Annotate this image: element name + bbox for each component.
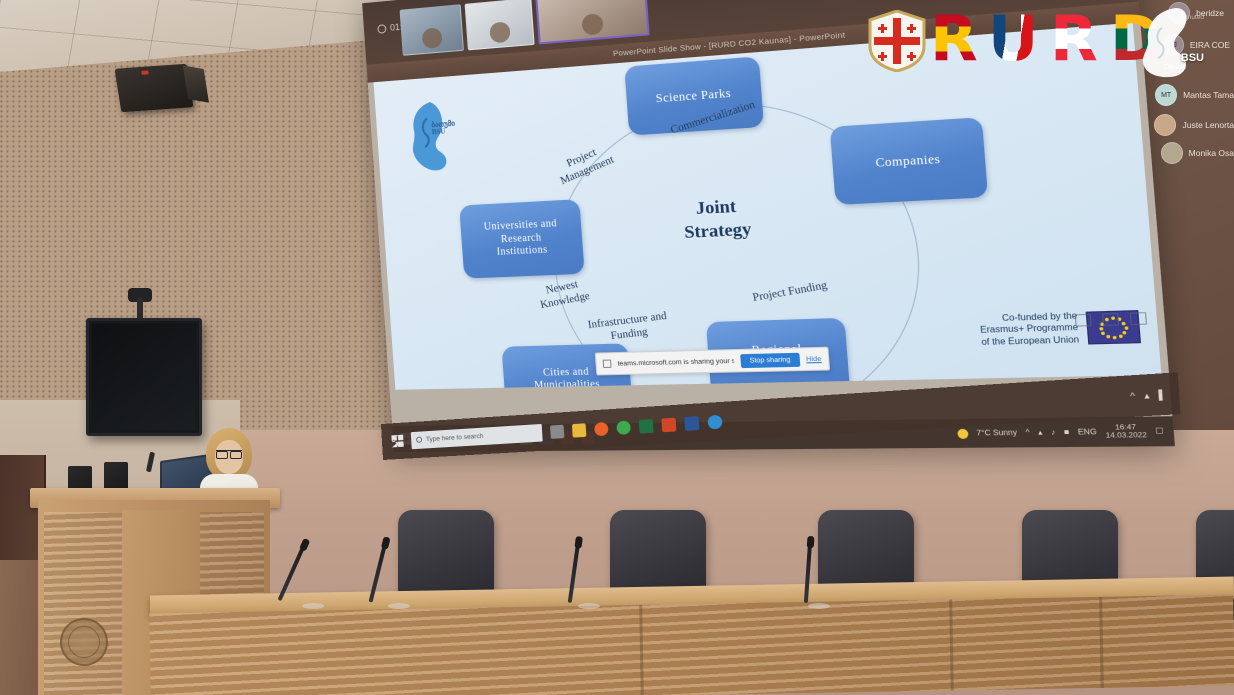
rurd-letter-r2: R [1050, 8, 1098, 70]
task-view-icon[interactable] [550, 424, 564, 438]
participant-name: Mantas Tama [1183, 90, 1234, 100]
desk-slat-pattern [149, 595, 1234, 695]
system-tray-laptop[interactable]: ^ ▴ ▌ [1130, 389, 1166, 402]
avatar: MT [1155, 84, 1177, 106]
hide-sharing-bar-link[interactable]: Hide [806, 355, 822, 363]
participant-name: Monika Osa [1189, 148, 1234, 158]
word-icon[interactable] [684, 416, 699, 431]
screen-share-notification: teams.microsoft.com is sharing your scre… [595, 347, 830, 376]
battery-icon[interactable]: ■ [1064, 428, 1070, 436]
clock-date: 14.03.2022 [1106, 431, 1148, 439]
stop-sharing-button[interactable]: Stop sharing [740, 352, 800, 367]
microphone-base [578, 603, 600, 609]
eu-star-icon [1099, 327, 1103, 331]
panel-desk-front [149, 595, 1234, 695]
network-icon[interactable]: ▴ [1038, 428, 1043, 437]
bsu-overlay-caption: BSU [1181, 52, 1204, 64]
explorer-icon[interactable] [572, 423, 586, 437]
eu-star-icon [1118, 335, 1122, 339]
share-message: teams.microsoft.com is sharing your scre… [617, 357, 734, 367]
eu-star-icon [1101, 332, 1105, 336]
pen-tools-icon[interactable] [1102, 313, 1119, 326]
participant-row[interactable]: MT Mantas Tama [1155, 84, 1234, 106]
slide-grid-icon[interactable] [1075, 314, 1092, 327]
projector-led-icon [141, 70, 149, 74]
node-universities[interactable]: Universities and Research Institutions [459, 199, 585, 278]
chevron-up-icon[interactable]: ^ [1130, 391, 1136, 402]
share-screen-icon [603, 359, 612, 368]
more-options-icon[interactable] [1130, 312, 1147, 325]
powerpoint-presenter-controls[interactable] [1075, 312, 1148, 327]
university-seal [60, 618, 108, 666]
active-speaker-thumbnail[interactable] [535, 0, 649, 45]
eu-star-icon [1124, 326, 1128, 330]
participant-name: Juste Lenorta [1182, 120, 1234, 130]
ceiling-projector [115, 64, 194, 112]
participant-row[interactable]: Juste Lenorta [1154, 114, 1234, 136]
weather-text[interactable]: 7°C Sunny [976, 429, 1017, 437]
weather-sun-icon [957, 428, 969, 438]
bsu-logo-text: ბათუმი BSU [431, 121, 455, 137]
volume-icon[interactable]: ▌ [1158, 389, 1166, 400]
system-tray[interactable]: 7°C Sunny ^ ▴ ♪ ■ ENG 16:47 14.03.2022 ☐ [957, 423, 1164, 442]
avatar [1161, 142, 1183, 164]
bsu-logo-icon [400, 98, 464, 176]
side-door-lower [0, 560, 38, 695]
microphone-base [808, 603, 830, 609]
record-dot-icon [377, 24, 386, 34]
rurd-letter-u: U [988, 8, 1038, 70]
lecture-hall-scene: 01:14:32 PowerPoint Slide Show - [RURD C… [0, 0, 1234, 695]
glasses-icon [216, 450, 242, 456]
search-icon [416, 437, 422, 443]
avatar [1154, 114, 1176, 136]
slide-center-title: Joint Strategy [645, 192, 791, 246]
language-indicator[interactable]: ENG [1078, 428, 1098, 436]
participant-row[interactable]: Monika Osa [1161, 142, 1234, 164]
microphone-base [302, 603, 324, 609]
bsu-head-logo-icon [1136, 6, 1208, 80]
volume-icon[interactable]: ♪ [1051, 428, 1056, 436]
search-placeholder: Type here to search [426, 432, 484, 443]
chrome-icon[interactable] [616, 420, 631, 434]
eu-star-icon [1112, 336, 1116, 340]
wall-monitor [86, 318, 202, 436]
excel-icon[interactable] [639, 419, 654, 434]
participant-thumbnail[interactable] [400, 4, 464, 56]
clock-time: 16:47 [1115, 423, 1136, 431]
eu-star-icon [1106, 335, 1110, 339]
network-icon[interactable]: ▴ [1144, 390, 1150, 401]
search-input[interactable]: Type here to search [411, 423, 543, 448]
chevron-up-icon[interactable]: ^ [1025, 429, 1030, 437]
firefox-icon[interactable] [594, 421, 609, 435]
georgia-shield-icon [868, 10, 926, 72]
powerpoint-icon[interactable] [661, 417, 676, 432]
node-companies[interactable]: Companies [830, 117, 988, 205]
clock[interactable]: 16:47 14.03.2022 [1105, 423, 1147, 440]
participant-thumbnail[interactable] [465, 0, 535, 50]
edge-icon[interactable] [707, 414, 722, 429]
rurd-letter-r1: R [930, 8, 978, 70]
start-button-icon[interactable] [391, 435, 403, 448]
eu-funding-text: Co-funded by the Erasmus+ Programme of t… [979, 310, 1080, 349]
eu-star-icon [1123, 331, 1127, 335]
notifications-icon[interactable]: ☐ [1155, 427, 1164, 436]
rurd-wordmark-overlay: R U R D BSU [862, 2, 1234, 80]
microphone-base [388, 603, 410, 609]
wall-monitor-screen [92, 324, 196, 430]
